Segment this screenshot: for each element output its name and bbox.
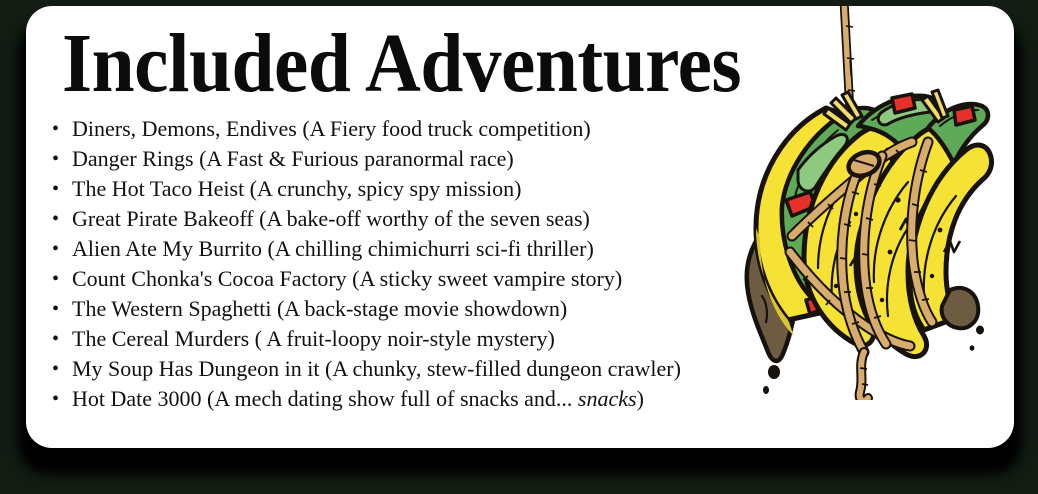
bullet-icon: • <box>52 294 59 324</box>
bullet-icon: • <box>52 234 59 264</box>
list-item-label: The Western Spaghetti (A back-stage movi… <box>72 296 567 321</box>
bullet-icon: • <box>52 174 59 204</box>
bullet-icon: • <box>52 204 59 234</box>
bullet-icon: • <box>52 324 59 354</box>
list-item-label: Danger Rings (A Fast & Furious paranorma… <box>72 146 514 171</box>
taco-filling-right <box>922 90 991 172</box>
list-item: • The Hot Taco Heist (A crunchy, spicy s… <box>44 174 774 204</box>
list-item: • Great Pirate Bakeoff (A bake-off worth… <box>44 204 774 234</box>
taco-shell-right <box>910 145 992 330</box>
adventure-list: • Diners, Demons, Endives (A Fiery food … <box>44 114 774 414</box>
rope-wrap-icon <box>790 142 932 400</box>
list-item-label: Diners, Demons, Endives (A Fiery food tr… <box>72 116 591 141</box>
taco-filling-middle <box>824 92 940 166</box>
taco-shell-left <box>804 127 905 346</box>
adventures-card: Included Adventures • Diners, Demons, En… <box>26 6 1014 448</box>
rope-cord-icon <box>844 6 860 170</box>
bullet-icon: • <box>52 114 59 144</box>
list-item: • The Western Spaghetti (A back-stage mo… <box>44 294 774 324</box>
bullet-icon: • <box>52 354 59 384</box>
list-item-label: My Soup Has Dungeon in it (A chunky, ste… <box>72 356 681 381</box>
list-item-emphasis: snacks <box>578 386 637 411</box>
list-item-label: Alien Ate My Burrito (A chilling chimich… <box>72 236 594 261</box>
bullet-icon: • <box>52 144 59 174</box>
bullet-icon: • <box>52 264 59 294</box>
list-item: • Danger Rings (A Fast & Furious paranor… <box>44 144 774 174</box>
list-item: • Diners, Demons, Endives (A Fiery food … <box>44 114 774 144</box>
screenshot-stage: Included Adventures • Diners, Demons, En… <box>0 0 1038 494</box>
list-item: • The Cereal Murders ( A fruit-loopy noi… <box>44 324 774 354</box>
list-item: • Count Chonka's Cocoa Factory (A sticky… <box>44 264 774 294</box>
list-item-label: Count Chonka's Cocoa Factory (A sticky s… <box>72 266 622 291</box>
taco-shell-middle <box>858 126 964 357</box>
page-title: Included Adventures <box>62 18 741 110</box>
list-item-tail: ) <box>637 386 644 411</box>
list-item-label: The Hot Taco Heist (A crunchy, spicy spy… <box>72 176 521 201</box>
list-item-label: Hot Date 3000 (A mech dating show full o… <box>72 386 578 411</box>
list-item: • Hot Date 3000 (A mech dating show full… <box>44 384 774 414</box>
list-item-label: Great Pirate Bakeoff (A bake-off worthy … <box>72 206 590 231</box>
meat-right <box>942 288 984 351</box>
bullet-icon: • <box>52 384 59 414</box>
list-item: • My Soup Has Dungeon in it (A chunky, s… <box>44 354 774 384</box>
list-item-label: The Cereal Murders ( A fruit-loopy noir-… <box>72 326 555 351</box>
taco-filling-left <box>782 108 882 314</box>
list-item: • Alien Ate My Burrito (A chilling chimi… <box>44 234 774 264</box>
